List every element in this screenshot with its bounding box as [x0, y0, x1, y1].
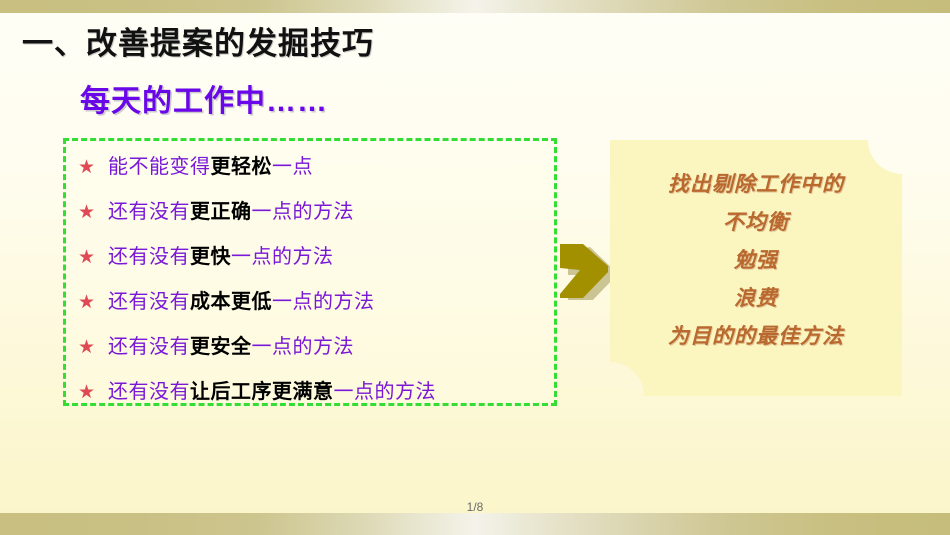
bottom-decorative-band: [0, 513, 950, 535]
star-icon: ★: [78, 381, 108, 402]
list-item: ★ 还有没有让后工序更满意一点的方法: [66, 375, 554, 420]
list-item: ★ 还有没有更正确一点的方法: [66, 195, 554, 240]
list-item-label: 还有没有成本更低一点的方法: [108, 285, 375, 314]
star-icon: ★: [78, 246, 108, 267]
page-subtitle: 每天的工作中……: [80, 76, 328, 120]
goal-plaque-text: 找出剔除工作中的 不均衡 勉强 浪费 为目的的最佳方法: [610, 166, 902, 356]
list-item: ★ 还有没有更安全一点的方法: [66, 330, 554, 375]
list-item: ★ 还有没有成本更低一点的方法: [66, 285, 554, 330]
list-item-label: 还有没有更正确一点的方法: [108, 195, 354, 224]
star-icon: ★: [78, 336, 108, 357]
slide-canvas: 一、改善提案的发掘技巧 每天的工作中…… ★ 能不能变得更轻松一点 ★ 还有没有…: [0, 0, 950, 535]
list-item-label: 还有没有让后工序更满意一点的方法: [108, 375, 436, 404]
plaque-line: 浪费: [610, 280, 902, 318]
star-icon: ★: [78, 201, 108, 222]
top-decorative-band: [0, 0, 950, 13]
questions-list-box: ★ 能不能变得更轻松一点 ★ 还有没有更正确一点的方法 ★ 还有没有更快一点的方…: [63, 138, 557, 406]
list-item-label: 还有没有更快一点的方法: [108, 240, 334, 269]
list-item: ★ 能不能变得更轻松一点: [66, 150, 554, 195]
plaque-line: 勉强: [610, 242, 902, 280]
list-item-label: 还有没有更安全一点的方法: [108, 330, 354, 359]
plaque-line: 找出剔除工作中的: [610, 166, 902, 204]
chevron-right-arrow-icon: [558, 242, 612, 300]
list-item: ★ 还有没有更快一点的方法: [66, 240, 554, 285]
star-icon: ★: [78, 291, 108, 312]
page-title: 一、改善提案的发掘技巧: [22, 18, 374, 63]
plaque-line: 不均衡: [610, 204, 902, 242]
goal-plaque-box: 找出剔除工作中的 不均衡 勉强 浪费 为目的的最佳方法: [610, 140, 902, 396]
questions-list: ★ 能不能变得更轻松一点 ★ 还有没有更正确一点的方法 ★ 还有没有更快一点的方…: [66, 150, 554, 420]
plaque-line: 为目的的最佳方法: [610, 318, 902, 356]
list-item-label: 能不能变得更轻松一点: [108, 150, 313, 179]
star-icon: ★: [78, 156, 108, 177]
page-number: 1/8: [0, 500, 950, 514]
